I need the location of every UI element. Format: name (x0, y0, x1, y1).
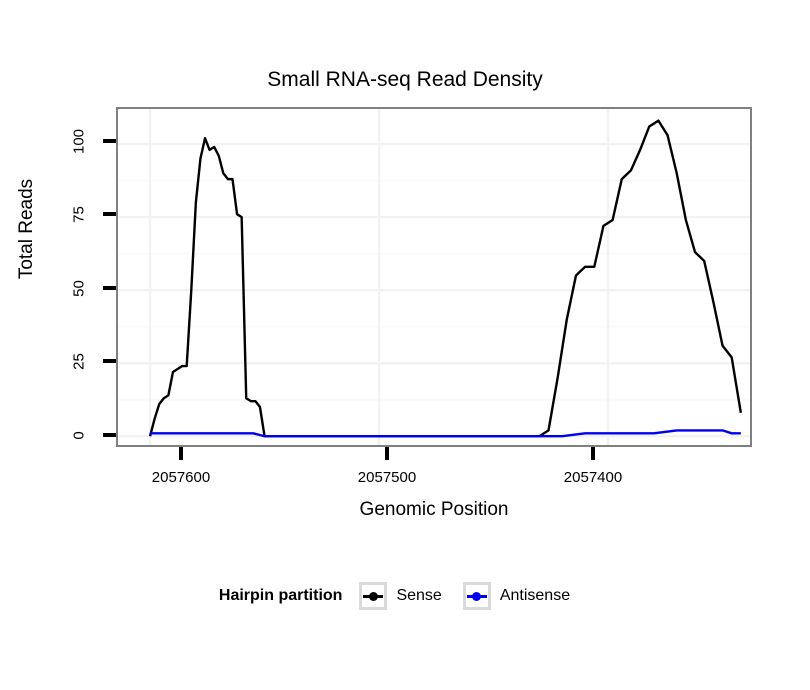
x-tick-label-2057500: 2057500 (307, 469, 467, 486)
series-lines (150, 121, 741, 437)
plot-canvas (118, 109, 750, 445)
legend-label-antisense: Antisense (500, 587, 570, 605)
chart-figure: Small RNA-seq Read Density Total Reads 1… (0, 0, 810, 690)
legend-title: Hairpin partition (219, 587, 343, 605)
y-tick-label-25: 25 (71, 342, 88, 382)
series-line-sense (150, 121, 741, 437)
legend-label-sense: Sense (396, 587, 441, 605)
legend: Hairpin partition Sense Antisense (0, 582, 810, 610)
legend-entry-sense[interactable]: Sense (359, 582, 462, 610)
x-tick-mark-2057500 (385, 447, 389, 460)
y-tick-mark-100 (103, 139, 116, 143)
x-tick-label-2057600: 2057600 (101, 469, 261, 486)
y-tick-label-0: 0 (71, 416, 88, 456)
y-tick-mark-75 (103, 212, 116, 216)
y-tick-mark-0 (103, 433, 116, 437)
x-axis-title: Genomic Position (116, 499, 752, 521)
y-tick-label-75: 75 (71, 195, 88, 235)
plot-panel (116, 107, 752, 447)
x-tick-mark-2057600 (179, 447, 183, 460)
y-tick-label-100: 100 (71, 122, 88, 162)
legend-key-antisense (463, 582, 491, 610)
x-tick-mark-2057400 (591, 447, 595, 460)
grid-lines (118, 109, 750, 445)
y-tick-mark-25 (103, 359, 116, 363)
legend-entry-antisense[interactable]: Antisense (463, 582, 591, 610)
y-tick-mark-50 (103, 286, 116, 290)
y-axis-title: Total Reads (16, 149, 38, 309)
legend-key-dot-sense (369, 592, 378, 601)
page-title: Small RNA-seq Read Density (0, 68, 810, 92)
x-tick-label-2057400: 2057400 (513, 469, 673, 486)
legend-key-sense (359, 582, 387, 610)
legend-key-dot-antisense (472, 592, 481, 601)
y-tick-label-50: 50 (71, 269, 88, 309)
